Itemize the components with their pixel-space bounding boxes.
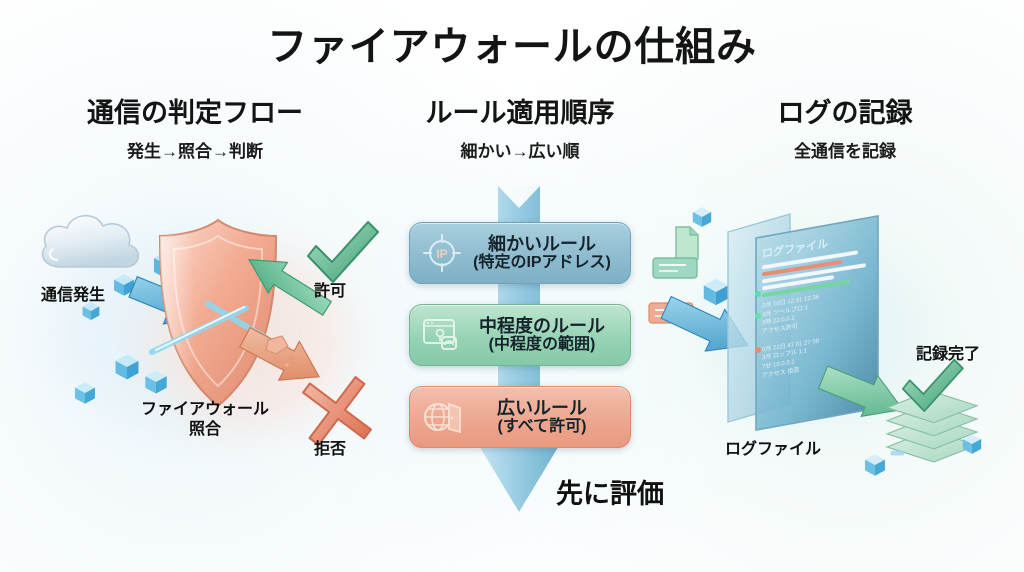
- network-window-icon: [420, 313, 464, 357]
- label-firewall-line1: ファイアウォール: [141, 401, 269, 418]
- label-firewall-line2: 照合: [189, 421, 221, 438]
- rule-card-medium[interactable]: 中程度のルール (中程度の範囲): [409, 304, 631, 366]
- rule-card-medium-sub: (中程度の範囲): [464, 336, 620, 354]
- column-heading-flow-sub: 発生→照合→判断: [30, 137, 360, 162]
- packet-cube-icon: [862, 452, 888, 478]
- rule-card-list: IP 細かいルール (特定のIPアドレス): [409, 222, 631, 468]
- packet-cube-icon: [112, 352, 142, 382]
- label-communication-source: 通信発生: [18, 286, 128, 306]
- column-heading-logging: ログの記録 全通信を記録: [690, 98, 1000, 162]
- label-recorded-complete: 記録完了: [898, 345, 998, 365]
- packet-cube-icon: [690, 205, 714, 229]
- rule-card-broad-sub: (すべて許可): [464, 418, 620, 436]
- packet-cube-icon: [960, 432, 984, 456]
- page-title: ファイアウォールの仕組み: [0, 14, 1024, 72]
- label-evaluated-first: 先に評価: [556, 472, 664, 511]
- column-heading-flow-title: 通信の判定フロー: [30, 98, 360, 129]
- packet-cube-icon: [72, 380, 98, 406]
- log-status-dots: [752, 288, 768, 398]
- label-deny: 拒否: [300, 440, 360, 460]
- column-heading-rules: ルール適用順序 細かい→広い順: [365, 98, 675, 162]
- cross-mark-icon: [300, 372, 374, 446]
- debris-icon: [256, 330, 298, 372]
- ip-target-icon: IP: [420, 231, 464, 275]
- rule-card-medium-title: 中程度のルール: [464, 316, 620, 336]
- rule-card-specific[interactable]: IP 細かいルール (特定のIPアドレス): [409, 222, 631, 284]
- check-mark-icon: [896, 356, 968, 420]
- label-allow: 許可: [300, 282, 360, 302]
- svg-text:IP: IP: [436, 247, 447, 261]
- check-mark-icon: [300, 218, 384, 292]
- column-heading-logging-title: ログの記録: [690, 98, 1000, 129]
- column-heading-rules-title: ルール適用順序: [365, 98, 675, 129]
- rule-card-broad-title: 広いルール: [464, 398, 620, 418]
- column-heading-flow: 通信の判定フロー 発生→照合→判断: [30, 98, 360, 162]
- file-icon: [652, 255, 698, 281]
- rule-card-broad[interactable]: 広いルール (すべて許可): [409, 386, 631, 448]
- globe-door-icon: [420, 395, 464, 439]
- infographic-canvas: ファイアウォールの仕組み 通信の判定フロー 発生→照合→判断 ルール適用順序 細…: [0, 0, 1024, 572]
- column-heading-rules-sub: 細かい→広い順: [365, 137, 675, 162]
- rule-card-specific-title: 細かいルール: [464, 234, 620, 254]
- label-firewall: ファイアウォール 照合: [125, 400, 285, 440]
- rule-card-specific-sub: (特定のIPアドレス): [464, 254, 620, 272]
- label-log-file: ログファイル: [718, 440, 828, 460]
- column-heading-logging-sub: 全通信を記録: [690, 137, 1000, 162]
